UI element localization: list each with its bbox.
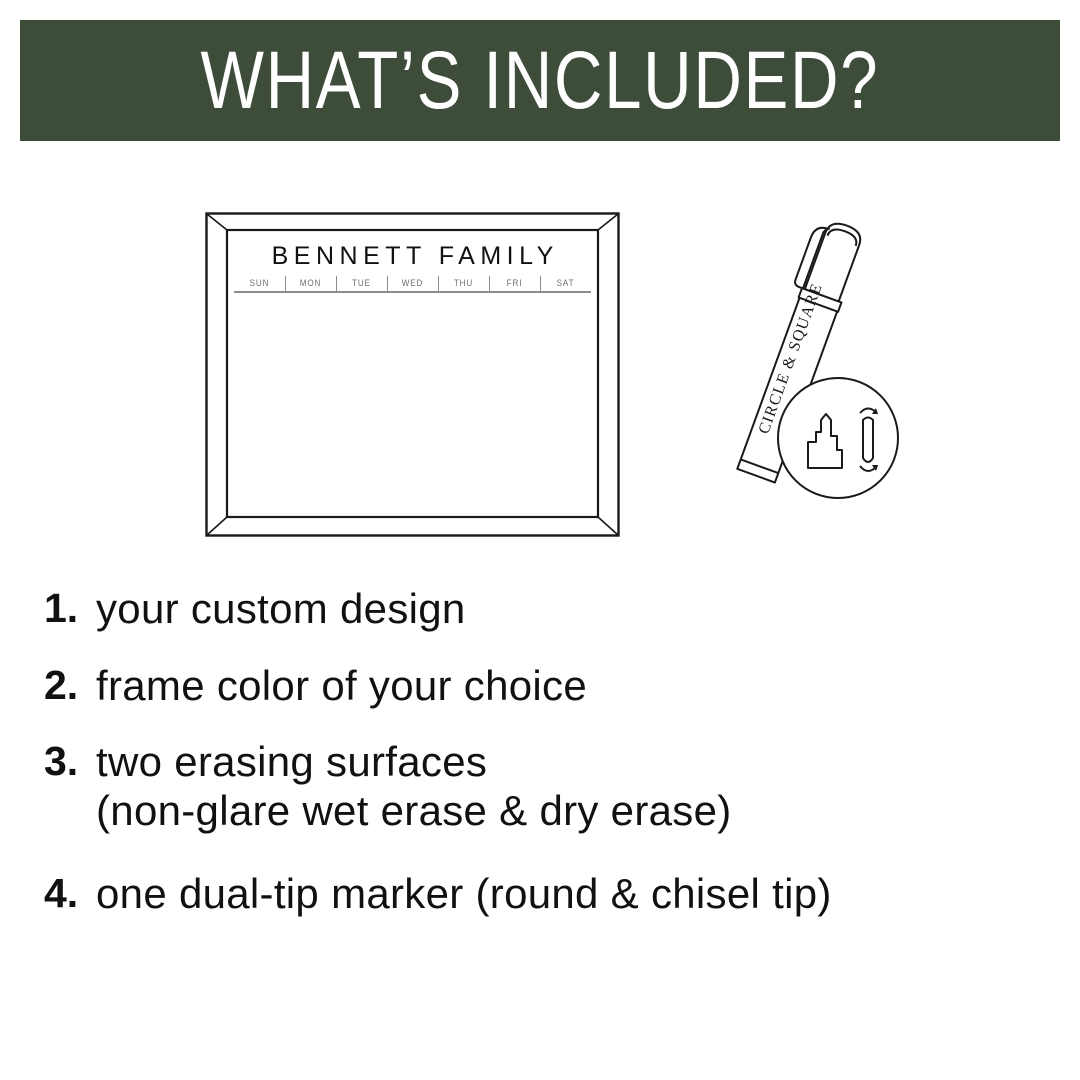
- calendar-day-header: SUN MON TUE WED THU FRI SAT: [234, 278, 591, 292]
- dual-tip-marker-icon: CIRCLE & SQUARE: [690, 210, 900, 520]
- list-item-line1: one dual-tip marker (round & chisel tip): [96, 870, 832, 917]
- grid-vline: [387, 276, 388, 292]
- list-item: 3. two erasing surfaces (non-glare wet e…: [0, 738, 1080, 835]
- day-label-wed: WED: [390, 278, 436, 291]
- illustration-row: BENNETT FAMILY SUN MON TUE WED THU FRI S…: [0, 160, 1080, 580]
- list-item: 4. one dual-tip marker (round & chisel t…: [0, 870, 1080, 919]
- header-banner: WHAT’S INCLUDED?: [20, 20, 1060, 141]
- list-item: 1. your custom design: [0, 585, 1080, 634]
- list-item-line1: two erasing surfaces: [96, 738, 487, 785]
- included-items-list: 1. your custom design 2. frame color of …: [0, 585, 1080, 947]
- list-item-line1: frame color of your choice: [96, 662, 587, 709]
- list-item-line2: (non-glare wet erase & dry erase): [96, 787, 732, 836]
- day-label-mon: MON: [288, 278, 334, 291]
- page-root: WHAT’S INCLUDED? BENNETT FAMILY SUN: [0, 0, 1080, 1080]
- calendar-board-illustration: BENNETT FAMILY SUN MON TUE WED THU FRI S…: [205, 212, 620, 537]
- marker-illustration: CIRCLE & SQUARE: [690, 210, 900, 520]
- day-label-fri: FRI: [492, 278, 538, 291]
- list-item-text: your custom design: [96, 585, 466, 634]
- grid-hline: [234, 292, 591, 293]
- list-item-text: one dual-tip marker (round & chisel tip): [96, 870, 832, 919]
- calendar-grid: SUN MON TUE WED THU FRI SAT: [234, 278, 591, 513]
- grid-vline: [285, 276, 286, 292]
- grid-vline: [540, 276, 541, 292]
- list-item-text: two erasing surfaces (non-glare wet eras…: [96, 738, 732, 835]
- list-item-number: 1.: [44, 585, 96, 633]
- list-item-number: 3.: [44, 738, 96, 786]
- grid-vline: [438, 276, 439, 292]
- list-item-number: 2.: [44, 662, 96, 710]
- day-label-tue: TUE: [339, 278, 385, 291]
- grid-vline: [489, 276, 490, 292]
- day-label-sun: SUN: [237, 278, 283, 291]
- day-label-thu: THU: [441, 278, 487, 291]
- board-title: BENNETT FAMILY: [227, 242, 598, 271]
- list-item-text: frame color of your choice: [96, 662, 587, 711]
- board-face: BENNETT FAMILY SUN MON TUE WED THU FRI S…: [227, 230, 598, 517]
- page-title: WHAT’S INCLUDED?: [201, 40, 880, 122]
- grid-vline: [336, 276, 337, 292]
- list-item-line1: your custom design: [96, 585, 466, 632]
- day-label-sat: SAT: [543, 278, 589, 291]
- list-item-number: 4.: [44, 870, 96, 918]
- list-item: 2. frame color of your choice: [0, 662, 1080, 711]
